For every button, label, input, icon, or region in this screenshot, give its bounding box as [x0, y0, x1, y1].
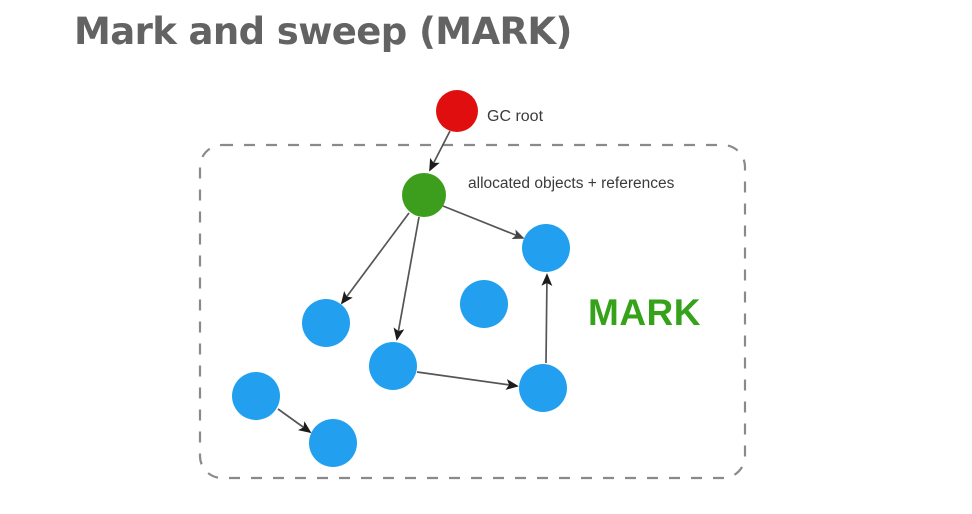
- edge-farleft-to-bottomleft: [278, 409, 310, 432]
- heap-object-nodes: [232, 90, 570, 467]
- object-node-bottom-left[interactable]: [309, 419, 357, 467]
- edge-midbottom-to-bottomright: [417, 372, 517, 386]
- object-node-bottom-right[interactable]: [519, 364, 567, 412]
- allocated-objects-label: allocated objects + references: [468, 175, 674, 193]
- mark-and-sweep-diagram: [0, 0, 972, 514]
- edge-green-to-left: [342, 213, 409, 303]
- slide-canvas: Mark and sweep (MARK): [0, 0, 972, 514]
- mark-phase-label: MARK: [588, 292, 701, 334]
- gc-root-node[interactable]: [436, 90, 478, 132]
- edge-bottomright-to-topright: [546, 275, 547, 363]
- edge-green-to-topright: [443, 206, 523, 238]
- gc-root-label: GC root: [487, 108, 543, 126]
- object-node-top-right[interactable]: [522, 224, 570, 272]
- object-node-center[interactable]: [460, 280, 508, 328]
- object-node-left[interactable]: [302, 299, 350, 347]
- edge-gcroot-to-green: [430, 131, 450, 170]
- edge-green-to-midbottom: [397, 217, 419, 339]
- object-node-mid-bottom[interactable]: [369, 342, 417, 390]
- object-node-far-left[interactable]: [232, 372, 280, 420]
- green-object-node[interactable]: [402, 173, 446, 217]
